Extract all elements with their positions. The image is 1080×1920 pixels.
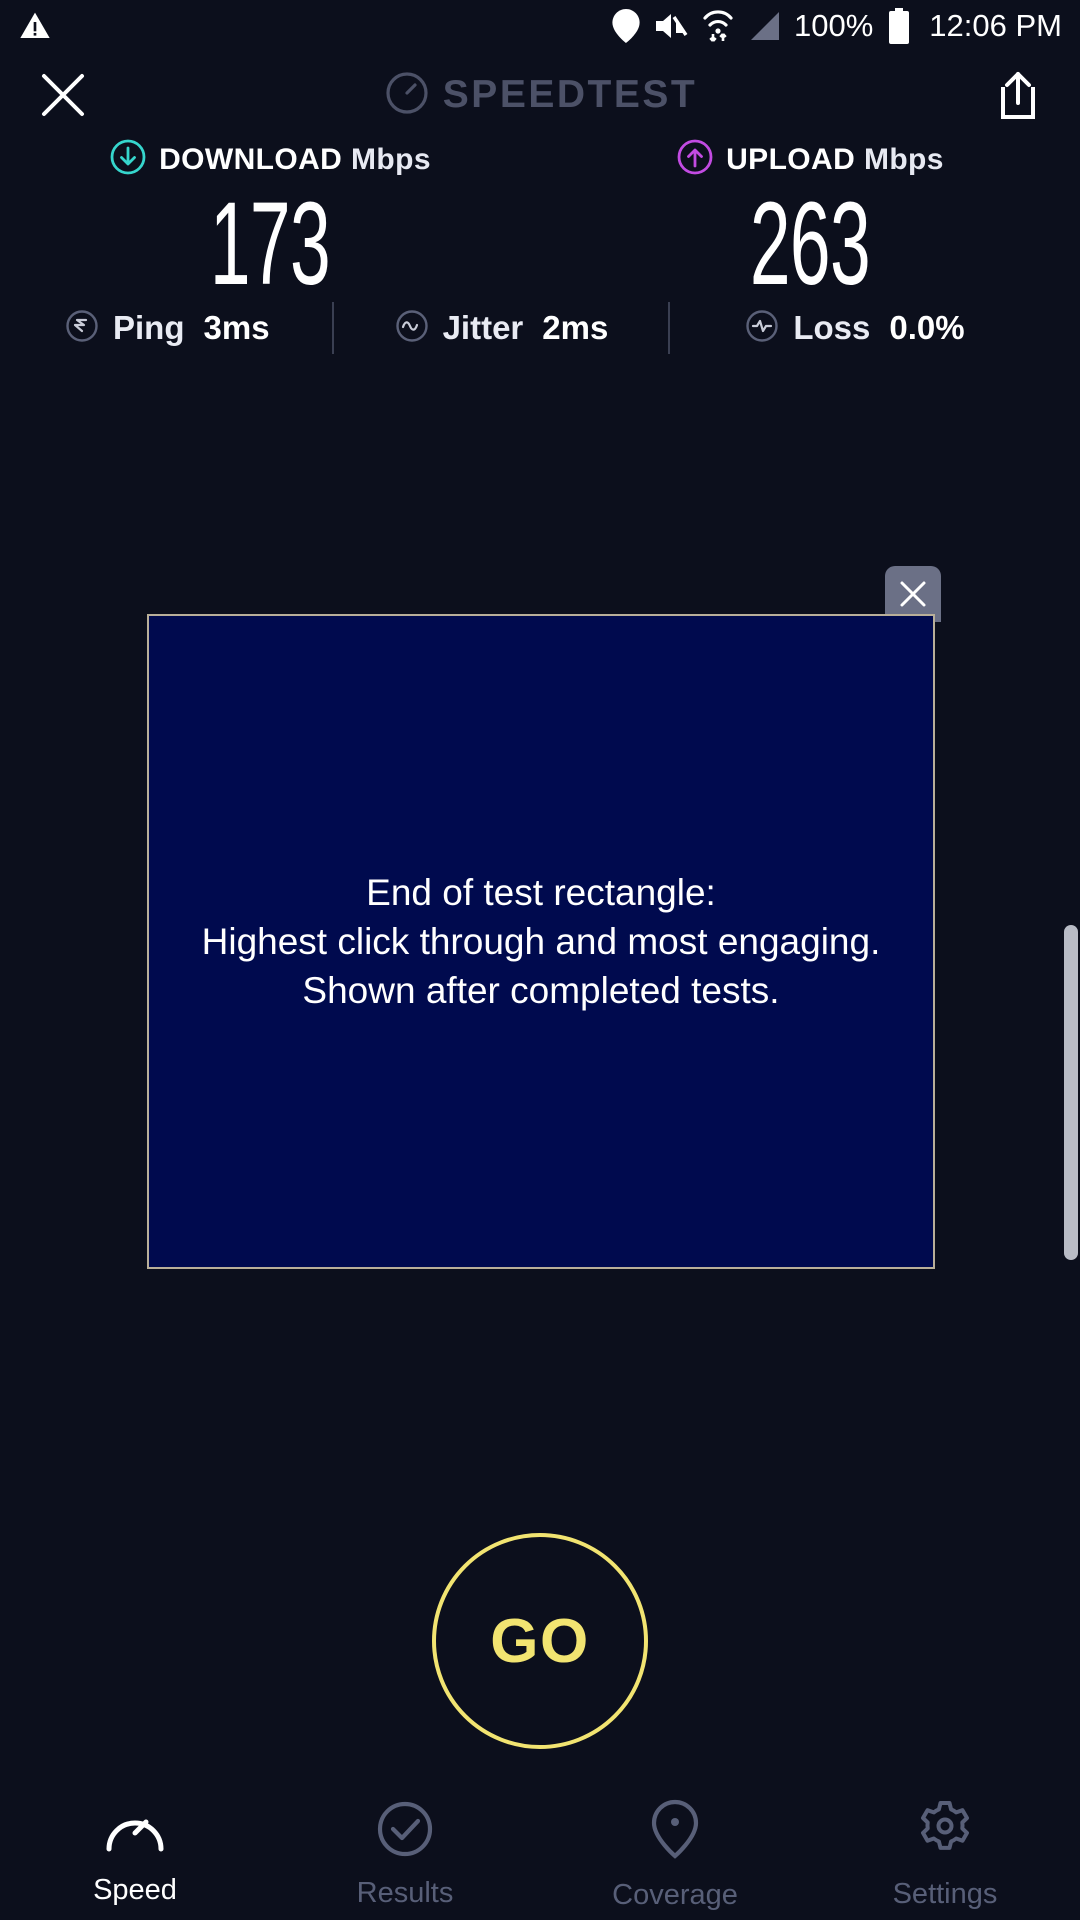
speedometer-icon (104, 1803, 166, 1860)
nav-label-speed: Speed (93, 1874, 177, 1907)
mute-icon (654, 11, 688, 41)
ad-line-2: Highest click through and most engaging. (202, 917, 881, 966)
map-pin-icon (649, 1798, 701, 1865)
share-button[interactable] (996, 71, 1040, 119)
loss-metric: Loss 0.0% (744, 308, 964, 349)
ad-close-icon (898, 579, 928, 609)
wifi-transfer-icon (702, 9, 734, 43)
gear-icon (915, 1799, 975, 1864)
loss-value: 0.0% (889, 309, 964, 347)
download-metric: DOWNLOAD Mbps 173 (0, 138, 540, 303)
upload-arrow-icon (676, 138, 714, 181)
ad-line-1: End of test rectangle: (202, 868, 881, 917)
nav-label-coverage: Coverage (612, 1879, 738, 1912)
download-label: DOWNLOAD Mbps (159, 143, 431, 177)
loss-label: Loss (793, 309, 870, 347)
app-header: SPEEDTEST (0, 56, 1080, 134)
cellular-signal-icon (748, 11, 780, 41)
go-button[interactable]: GO (432, 1533, 648, 1749)
battery-percent-label: 100% (794, 8, 873, 44)
nav-item-coverage[interactable]: Coverage (540, 1798, 810, 1912)
close-button[interactable] (40, 72, 86, 118)
ad-text: End of test rectangle: Highest click thr… (202, 868, 881, 1016)
upload-metric: UPLOAD Mbps 263 (540, 138, 1080, 303)
jitter-metric: Jitter 2ms (394, 308, 609, 349)
divider-2 (668, 302, 670, 354)
jitter-icon (394, 308, 430, 349)
nav-label-settings: Settings (893, 1878, 998, 1911)
ping-icon (64, 308, 100, 349)
page-title: SPEEDTEST (443, 73, 697, 117)
ping-value: 3ms (204, 309, 270, 347)
vertical-scrollbar[interactable] (1064, 925, 1078, 1260)
brand: SPEEDTEST (385, 71, 697, 120)
results-panel: DOWNLOAD Mbps 173 UPLOAD Mbps (0, 138, 1080, 303)
speed-values-row: DOWNLOAD Mbps 173 UPLOAD Mbps (0, 138, 1080, 303)
nav-item-results[interactable]: Results (270, 1800, 540, 1910)
upload-label: UPLOAD Mbps (726, 143, 944, 177)
warning-triangle-icon (18, 10, 52, 42)
check-circle-icon (376, 1800, 434, 1863)
download-header: DOWNLOAD Mbps (109, 138, 431, 181)
jitter-label: Jitter (443, 309, 524, 347)
ping-jitter-loss-row: Ping 3ms Jitter 2ms Loss 0.0% (0, 300, 1080, 356)
nav-item-settings[interactable]: Settings (810, 1799, 1080, 1911)
go-button-label: GO (490, 1606, 589, 1677)
speedtest-gauge-icon (385, 71, 429, 120)
speedtest-app-screen: 100% 12:06 PM SPEEDTEST (0, 0, 1080, 1920)
download-value: 173 (210, 185, 330, 303)
nav-item-speed[interactable]: Speed (0, 1803, 270, 1907)
ad-line-3: Shown after completed tests. (202, 966, 881, 1015)
bottom-navigation: Speed Results Coverage (0, 1790, 1080, 1920)
upload-header: UPLOAD Mbps (676, 138, 944, 181)
status-bar-right: 100% 12:06 PM (612, 8, 1062, 44)
loss-icon (744, 308, 780, 349)
nav-label-results: Results (357, 1877, 454, 1910)
status-bar: 100% 12:06 PM (0, 0, 1080, 52)
advertisement-rectangle[interactable]: End of test rectangle: Highest click thr… (147, 614, 935, 1269)
ping-label: Ping (113, 309, 185, 347)
battery-full-icon (887, 8, 911, 44)
clock-label: 12:06 PM (929, 8, 1062, 44)
download-arrow-icon (109, 138, 147, 181)
divider-1 (332, 302, 334, 354)
ping-metric: Ping 3ms (64, 308, 270, 349)
upload-value: 263 (750, 185, 870, 303)
status-bar-left (18, 10, 52, 42)
location-pin-icon (612, 9, 640, 43)
jitter-value: 2ms (542, 309, 608, 347)
